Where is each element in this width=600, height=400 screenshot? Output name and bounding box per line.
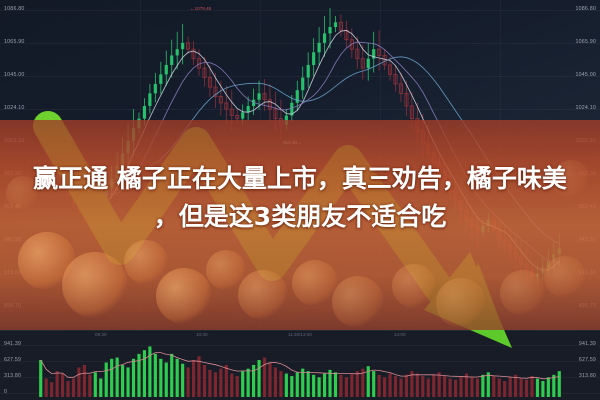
stock-chart-image: 1086.80 1065.90 1045.00 1024.10 1003.20 … (0, 0, 600, 400)
headline-line-1: 赢正通 橘子正在大量上市，真三劝告，橘子味美 (33, 164, 567, 193)
bokeh-circle (156, 268, 212, 324)
bokeh-circle (332, 276, 384, 328)
bokeh-circle (500, 270, 546, 316)
bokeh-circle (436, 278, 486, 328)
bokeh-circle (238, 270, 288, 320)
headline-line-2: ，但是这3类朋友不适合吃 (0, 198, 600, 236)
bokeh-circle (392, 264, 436, 308)
bokeh-circle (544, 256, 586, 298)
bokeh-circle (62, 252, 128, 318)
headline-text: 赢正通 橘子正在大量上市，真三劝告，橘子味美 ，但是这3类朋友不适合吃 (0, 160, 600, 236)
